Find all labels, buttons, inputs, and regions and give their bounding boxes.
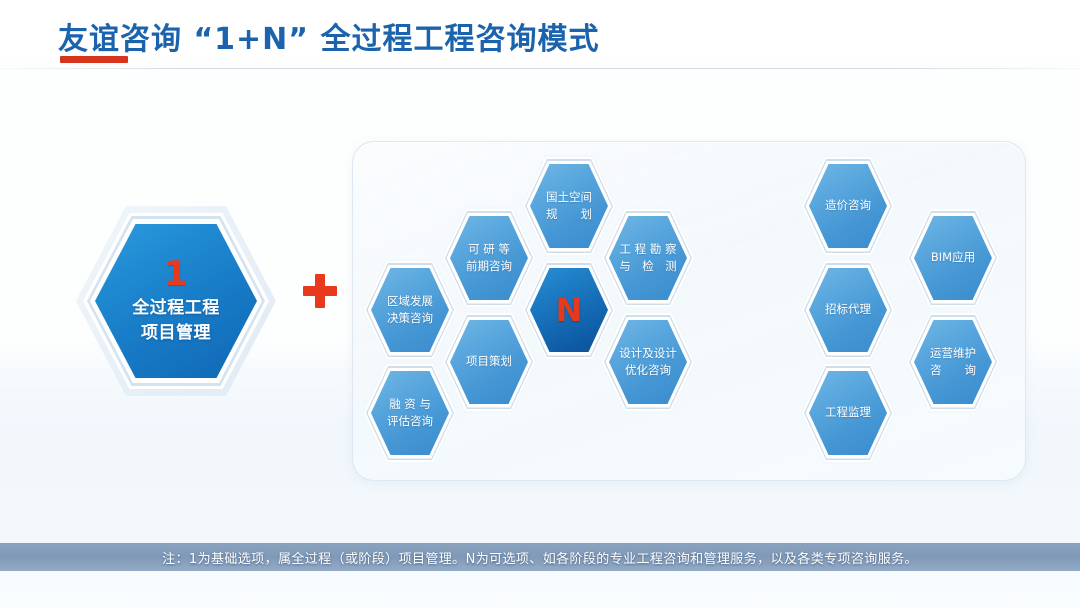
hexagon-design-optimization[interactable]: 设计及设计 优化咨询 xyxy=(600,311,696,413)
hexagon-label-line1: 可 研 等 xyxy=(468,241,510,258)
hexagon-label: 工程监理 xyxy=(809,371,887,455)
hexagon-label-line1: 运营维护 xyxy=(930,345,976,362)
hexagon-label-line2: 咨 询 xyxy=(930,362,976,379)
hexagon-label-line1: 融 资 与 xyxy=(389,396,431,413)
hexagon-label: 设计及设计 优化咨询 xyxy=(609,320,687,404)
hexagon-bidding-agency[interactable]: 招标代理 xyxy=(800,259,896,361)
title-underline-accent xyxy=(60,56,128,63)
hexagon-label: 融 资 与 评估咨询 xyxy=(371,371,449,455)
hexagon-label: BIM应用 xyxy=(914,216,992,300)
primary-hexagon-number: 1 xyxy=(164,257,188,291)
hexagon-label: 招标代理 xyxy=(809,268,887,352)
primary-hexagon[interactable]: 1 全过程工程 项目管理 xyxy=(76,206,276,396)
hexagon-label-line2: 评估咨询 xyxy=(387,413,433,430)
hexagon-label-line1: 造价咨询 xyxy=(825,197,871,214)
slide-canvas: 友谊咨询 “1+N” 全过程工程咨询模式 1 全过程工程 项目管理 区域发展 决… xyxy=(0,0,1080,608)
hexagon-label-line1: 区域发展 xyxy=(387,293,433,310)
hexagon-operation-maintenance[interactable]: 运营维护 咨 询 xyxy=(905,311,1001,413)
hexagon-label-line1: 项目策划 xyxy=(466,353,512,370)
hexagon-label: 项目策划 xyxy=(450,320,528,404)
hexagon-label-line1: 设计及设计 xyxy=(619,345,677,362)
plus-sign-icon xyxy=(303,274,337,308)
primary-hexagon-content: 1 全过程工程 项目管理 xyxy=(95,224,257,378)
hexagon-label-line2: 决策咨询 xyxy=(387,310,433,327)
hexagon-label-line2: 优化咨询 xyxy=(625,362,671,379)
header-divider xyxy=(0,68,1080,69)
footnote-band: 注：1为基础选项，属全过程（或阶段）项目管理。N为可选项、如各阶段的专业工程咨询… xyxy=(0,543,1080,571)
hexagon-label-line1: 招标代理 xyxy=(825,301,871,318)
hexagon-label-line2: 规 划 xyxy=(546,206,592,223)
hexagon-survey-testing[interactable]: 工 程 勘 察 与 检 测 xyxy=(600,207,696,309)
hexagon-label: 工 程 勘 察 与 检 测 xyxy=(609,216,687,300)
hexagon-label-line2: 与 检 测 xyxy=(619,258,677,275)
hexagon-construction-supervision[interactable]: 工程监理 xyxy=(800,362,896,464)
hexagon-bim-application[interactable]: BIM应用 xyxy=(905,207,1001,309)
hexagon-label-line2: 前期咨询 xyxy=(466,258,512,275)
hexagon-label-line1: 工 程 勘 察 xyxy=(620,241,677,258)
hexagon-label: N xyxy=(530,268,608,352)
hexagon-cost-consulting[interactable]: 造价咨询 xyxy=(800,155,896,257)
hexagon-label-line1: 国土空间 xyxy=(546,189,592,206)
hexagon-label-line1: 工程监理 xyxy=(825,404,871,421)
hexagon-label: 可 研 等 前期咨询 xyxy=(450,216,528,300)
hexagon-label: 国土空间 规 划 xyxy=(530,164,608,248)
hexagon-label-line1: BIM应用 xyxy=(931,249,975,266)
hexagon-label: 运营维护 咨 询 xyxy=(914,320,992,404)
hexagon-label: 造价咨询 xyxy=(809,164,887,248)
footnote-text: 注：1为基础选项，属全过程（或阶段）项目管理。N为可选项、如各阶段的专业工程咨询… xyxy=(162,548,918,567)
primary-hexagon-line2: 项目管理 xyxy=(141,321,211,345)
primary-hexagon-line1: 全过程工程 xyxy=(132,296,220,320)
hexagon-label: 区域发展 决策咨询 xyxy=(371,268,449,352)
page-title: 友谊咨询 “1+N” 全过程工程咨询模式 xyxy=(58,14,599,58)
